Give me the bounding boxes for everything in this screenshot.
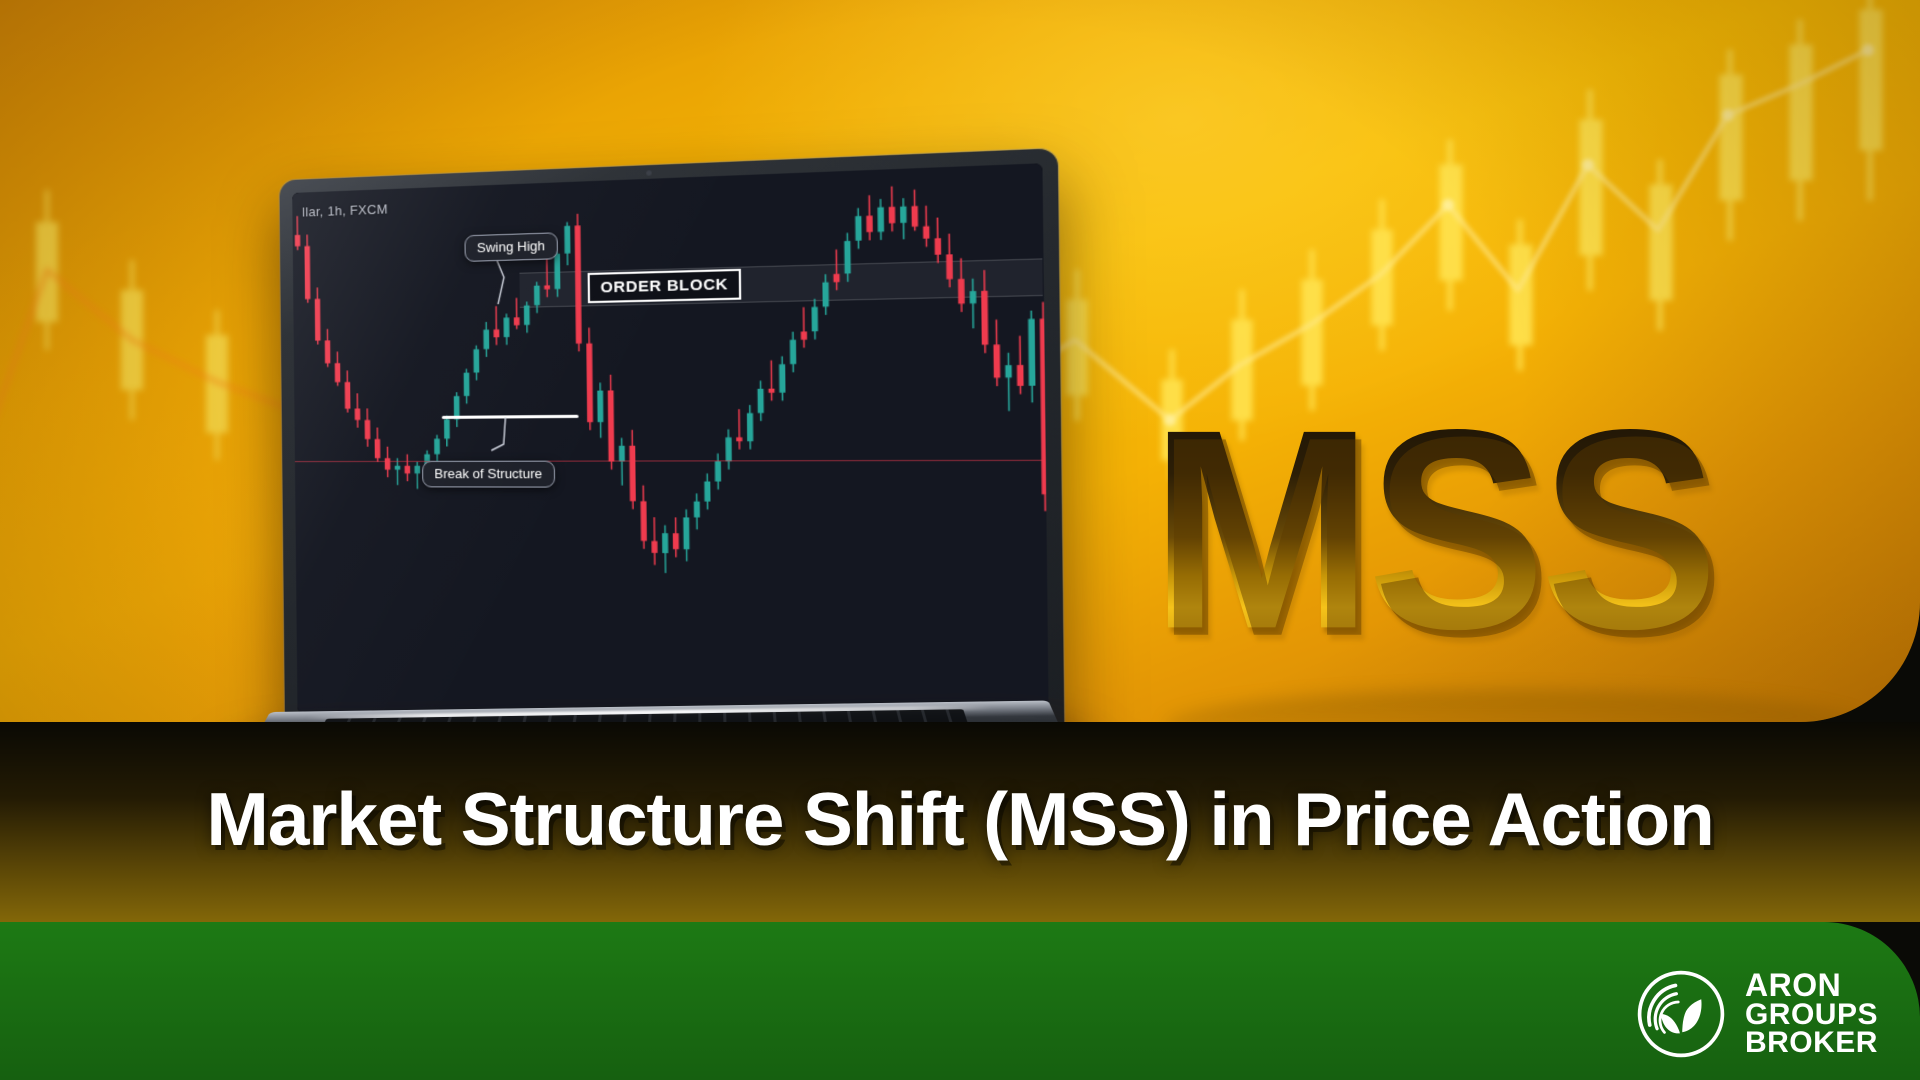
trading-chart-screen[interactable]: llar, 1h, FXCM (292, 163, 1049, 722)
brand-line-3: BROKER (1745, 1029, 1878, 1058)
brand-wordmark: ARON GROUPS BROKER (1745, 970, 1878, 1058)
brand-logo[interactable]: ARON GROUPS BROKER (1635, 968, 1878, 1060)
footer-bar (0, 922, 1920, 1080)
break-of-structure-label: Break of Structure (422, 461, 555, 488)
brand-line-1: ARON (1745, 970, 1878, 1001)
swing-high-leader-line (465, 256, 527, 305)
order-block-label: ORDER BLOCK (588, 269, 742, 303)
laptop-device: llar, 1h, FXCM (250, 172, 1080, 722)
laptop-bezel: llar, 1h, FXCM (292, 163, 1049, 722)
laptop-lid: llar, 1h, FXCM (279, 148, 1064, 722)
mss-3d-text: MSS (1150, 391, 1880, 709)
page-title: Market Structure Shift (MSS) in Price Ac… (0, 776, 1920, 862)
hero-background-panel: MSS MSS llar, 1h, FXCM (0, 0, 1920, 722)
candlestick-series (292, 170, 1049, 602)
poster-canvas: MSS MSS llar, 1h, FXCM (0, 0, 1920, 1080)
leaf-circle-logo-icon (1635, 968, 1727, 1060)
webcam-icon (646, 170, 651, 175)
swing-high-label: Swing High (464, 232, 557, 262)
brand-line-2: GROUPS (1745, 1001, 1878, 1030)
